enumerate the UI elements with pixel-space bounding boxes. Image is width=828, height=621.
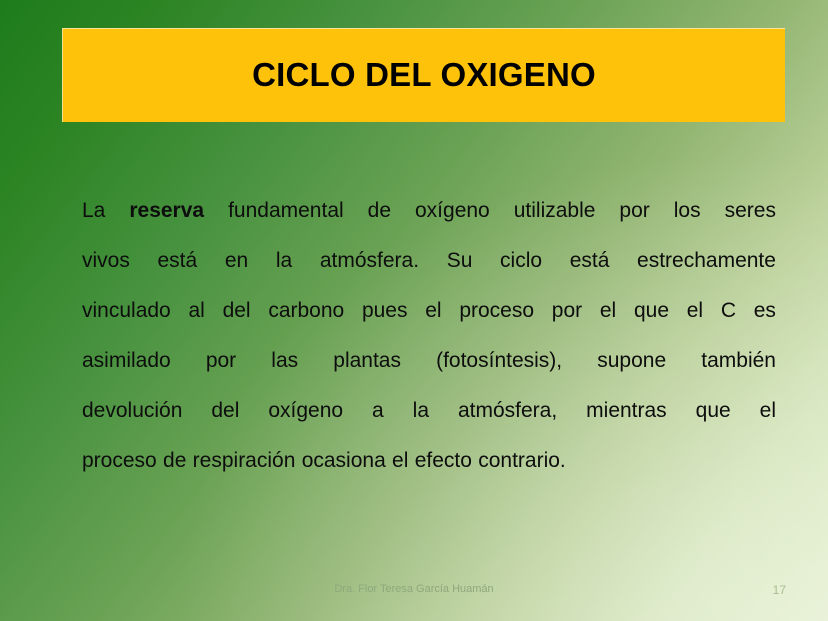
body-word: el [425,286,441,336]
slide-page-number: 17 [773,583,786,597]
body-line: devolucióndeloxígenoalaatmósfera,mientra… [82,386,776,436]
body-word: contrario. [478,436,566,486]
body-word: respiración [193,436,296,486]
body-word: asimilado [82,336,171,386]
body-word: el [687,286,703,336]
body-word: efecto [415,436,472,486]
body-word: que [696,386,731,436]
body-line: procesoderespiraciónocasionaelefectocont… [82,436,776,486]
body-word: La [82,186,105,236]
slide-title-banner: CICLO DEL OXIGENO [62,28,785,122]
body-word: utilizable [514,186,596,236]
body-word: la [413,386,429,436]
body-word: estrechamente [637,236,776,286]
body-word: C [721,286,736,336]
body-word: está [570,236,610,286]
body-word: por [552,286,582,336]
body-line: vivosestáenlaatmósfera.Sucicloestáestrec… [82,236,776,286]
page-title: CICLO DEL OXIGENO [252,57,596,93]
body-word: (fotosíntesis), [436,336,562,386]
body-word: en [225,236,248,286]
body-word: el [760,386,776,436]
body-word: oxígeno [415,186,490,236]
body-word: supone [597,336,666,386]
body-word: Su [447,236,473,286]
body-word: devolución [82,386,182,436]
body-word: es [754,286,776,336]
body-word-emphasis: reserva [129,186,204,236]
body-word: seres [725,186,776,236]
body-word: está [158,236,198,286]
body-word: del [223,286,251,336]
body-word: plantas [333,336,401,386]
body-word: los [674,186,701,236]
body-word: atmósfera, [458,386,557,436]
body-word: a [372,386,384,436]
body-word: ciclo [500,236,542,286]
body-word: de [368,186,391,236]
body-word: también [701,336,776,386]
body-word: atmósfera. [320,236,419,286]
body-line: vinculadoaldelcarbonopueselprocesoporelq… [82,286,776,336]
body-word: vivos [82,236,130,286]
body-word: por [619,186,649,236]
body-word: al [188,286,204,336]
footer-author: Dra. Flor Teresa García Huamán [0,583,828,595]
body-word: de [163,436,186,486]
body-word: por [206,336,236,386]
body-line: asimiladoporlasplantas(fotosíntesis),sup… [82,336,776,386]
body-word: carbono [268,286,344,336]
body-word: fundamental [228,186,344,236]
body-word: pues [362,286,408,336]
body-word: proceso [82,436,157,486]
body-word: el [392,436,408,486]
body-word: las [271,336,298,386]
body-word: el [600,286,616,336]
body-word: mientras [586,386,667,436]
body-word: oxígeno [268,386,343,436]
body-word: del [211,386,239,436]
body-word: que [634,286,669,336]
presentation-slide: CICLO DEL OXIGENO Lareservafundamentalde… [0,0,828,621]
body-word: la [276,236,292,286]
slide-body-text: Lareservafundamentaldeoxígenoutilizablep… [82,186,776,486]
body-word: proceso [459,286,534,336]
body-line: Lareservafundamentaldeoxígenoutilizablep… [82,186,776,236]
body-word: vinculado [82,286,171,336]
body-word: ocasiona [302,436,386,486]
